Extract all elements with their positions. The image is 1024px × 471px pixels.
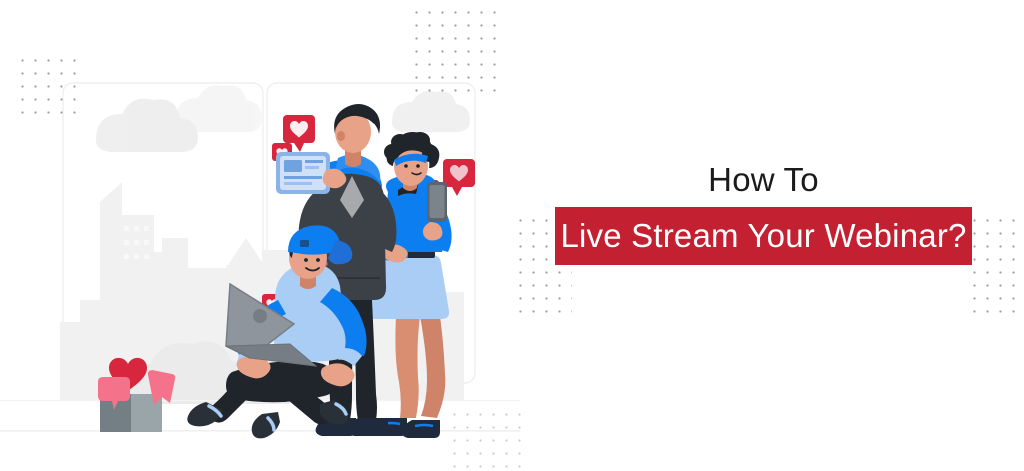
tablet (276, 152, 330, 194)
headline-block: How To Live Stream Your Webinar? (555, 160, 972, 265)
banner-root: How To Live Stream Your Webinar? (0, 0, 1024, 471)
headline-kicker: How To (555, 160, 972, 200)
headline-title: Live Stream Your Webinar? (560, 217, 966, 255)
headline-highlight-bar: Live Stream Your Webinar? (555, 207, 972, 265)
dot-grid-title-right (966, 212, 1024, 322)
illustration (0, 0, 520, 471)
heart-bubble-large-2 (443, 159, 475, 196)
